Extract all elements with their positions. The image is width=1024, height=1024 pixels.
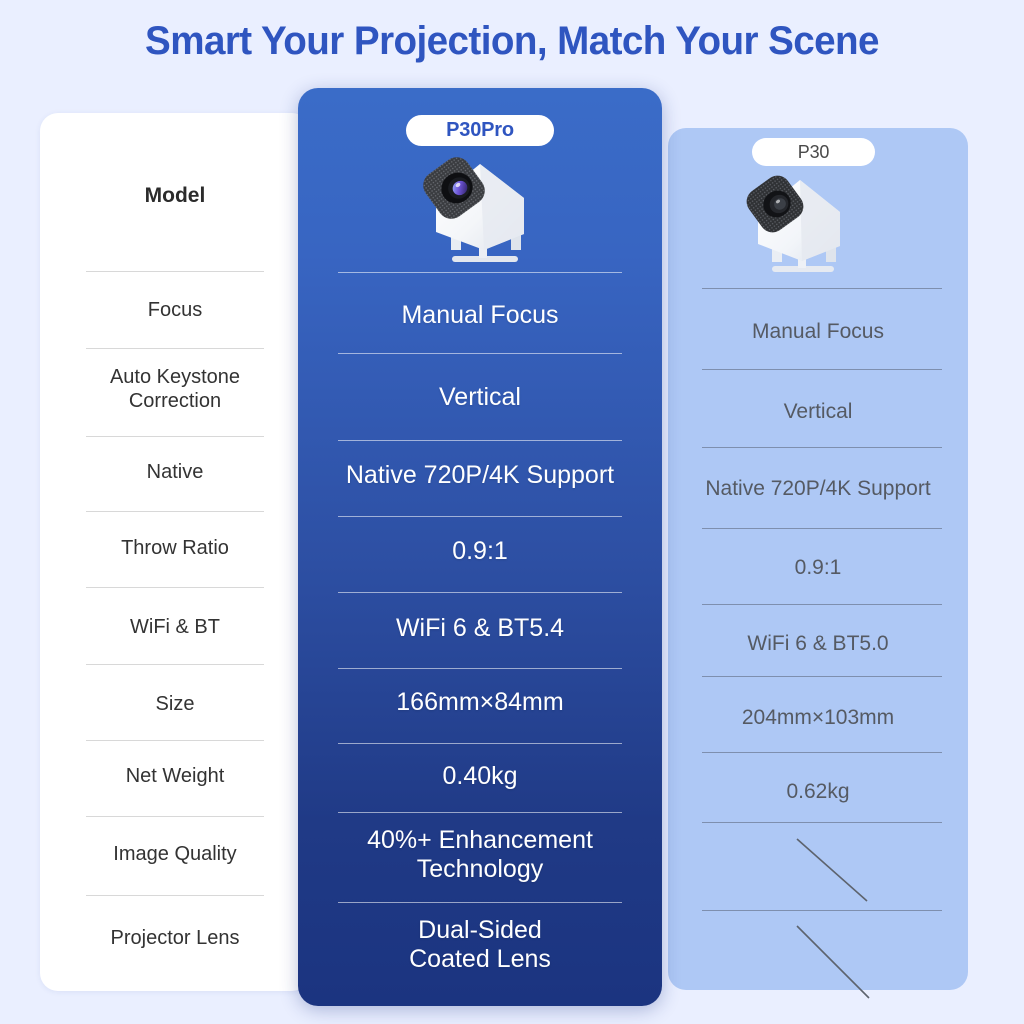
divider	[338, 743, 622, 744]
std-value-focus: Manual Focus	[672, 310, 964, 354]
pro-value-native: Native 720P/4K Support	[306, 452, 654, 498]
divider	[338, 902, 622, 903]
divider	[702, 369, 942, 370]
pro-value-image-quality: 40%+ Enhancement Technology	[306, 824, 654, 886]
std-value-net-weight: 0.62kg	[672, 770, 964, 814]
divider	[338, 272, 622, 273]
projector-p30pro-image	[418, 146, 550, 268]
divider	[86, 436, 264, 437]
divider	[702, 676, 942, 677]
spec-label-native: Native	[40, 448, 310, 496]
divider	[86, 271, 264, 272]
divider	[86, 895, 264, 896]
divider	[338, 440, 622, 441]
divider	[702, 528, 942, 529]
spec-label-focus: Focus	[40, 286, 310, 334]
divider	[86, 511, 264, 512]
std-value-throw-ratio: 0.9:1	[672, 546, 964, 590]
pro-value-size: 166mm×84mm	[306, 679, 654, 725]
unavailable-slash-icon	[795, 922, 875, 1002]
unavailable-slash-icon	[795, 835, 875, 905]
divider	[86, 740, 264, 741]
divider	[702, 910, 942, 911]
divider	[86, 348, 264, 349]
projector-p30-image	[742, 166, 864, 278]
spec-label-wifi-bt: WiFi & BT	[40, 603, 310, 651]
divider	[86, 664, 264, 665]
std-value-wifi-bt: WiFi 6 & BT5.0	[672, 622, 964, 666]
divider	[338, 668, 622, 669]
spec-label-projector-lens: Projector Lens	[40, 914, 310, 962]
divider	[86, 816, 264, 817]
spec-label-size: Size	[40, 680, 310, 728]
divider	[338, 516, 622, 517]
spec-label-net-weight: Net Weight	[40, 752, 310, 800]
std-value-auto-keystone: Vertical	[672, 390, 964, 434]
pro-value-auto-keystone: Vertical	[306, 374, 654, 420]
std-value-size: 204mm×103mm	[672, 696, 964, 740]
spec-label-image-quality: Image Quality	[40, 830, 310, 878]
divider	[702, 822, 942, 823]
divider	[338, 353, 622, 354]
pro-value-throw-ratio: 0.9:1	[306, 528, 654, 574]
p30-badge: P30	[752, 138, 875, 166]
divider	[702, 752, 942, 753]
divider	[702, 604, 942, 605]
spec-label-throw-ratio: Throw Ratio	[40, 524, 310, 572]
std-value-native: Native 720P/4K Support	[672, 467, 964, 511]
divider	[702, 447, 942, 448]
spec-label-auto-keystone-correction: Auto Keystone Correction	[40, 360, 310, 418]
divider	[86, 587, 264, 588]
divider	[702, 288, 942, 289]
pro-value-wifi-bt: WiFi 6 & BT5.4	[306, 605, 654, 651]
p30pro-badge: P30Pro	[406, 115, 554, 146]
pro-value-focus: Manual Focus	[306, 292, 654, 338]
divider	[338, 812, 622, 813]
divider	[338, 592, 622, 593]
pro-value-projector-lens: Dual-Sided Coated Lens	[306, 914, 654, 976]
pro-value-net-weight: 0.40kg	[306, 753, 654, 799]
page-title: Smart Your Projection, Match Your Scene	[18, 19, 1006, 64]
spec-label-model: Model	[40, 162, 310, 230]
